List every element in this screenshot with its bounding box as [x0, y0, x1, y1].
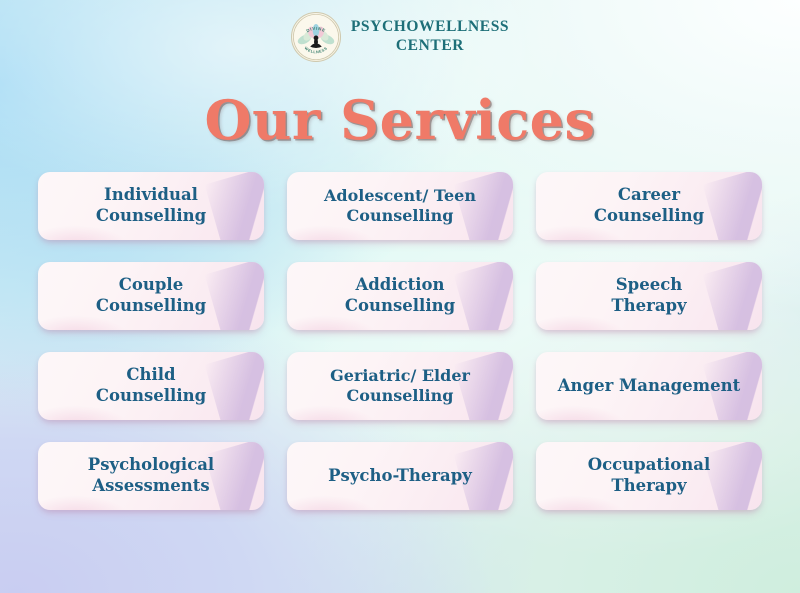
service-card-label: Adolescent/ Teen Counselling	[316, 186, 484, 226]
service-card[interactable]: Geriatric/ Elder Counselling	[287, 352, 513, 420]
brand-name-line1: PSYCHOWELLNESS	[351, 18, 509, 35]
service-card-label: Career Counselling	[586, 185, 712, 227]
service-card-label: Occupational Therapy	[580, 455, 719, 497]
service-card[interactable]: Psychological Assessments	[38, 442, 264, 510]
service-card-label: Child Counselling	[88, 365, 214, 407]
brand-name: PSYCHOWELLNESS CENTER	[351, 18, 509, 56]
service-card-label: Psycho-Therapy	[320, 466, 480, 487]
service-card[interactable]: Career Counselling	[536, 172, 762, 240]
page-title: Our Services	[0, 88, 800, 152]
service-card[interactable]: Child Counselling	[38, 352, 264, 420]
service-card-label: Anger Management	[550, 376, 749, 397]
service-card-label: Geriatric/ Elder Counselling	[322, 366, 478, 406]
service-card[interactable]: Addiction Counselling	[287, 262, 513, 330]
brand-header: DIVINE WELLNESS PSYCHOWELLNESS CENTER	[0, 12, 800, 62]
service-card[interactable]: Couple Counselling	[38, 262, 264, 330]
services-grid: Individual Counselling Adolescent/ Teen …	[38, 172, 762, 510]
service-card-label: Psychological Assessments	[80, 455, 222, 497]
service-card[interactable]: Individual Counselling	[38, 172, 264, 240]
service-card-label: Speech Therapy	[603, 275, 694, 317]
service-card[interactable]: Anger Management	[536, 352, 762, 420]
service-card[interactable]: Psycho-Therapy	[287, 442, 513, 510]
brand-name-line2: CENTER	[351, 37, 509, 56]
divine-wellness-lotus-logo-icon: DIVINE WELLNESS	[291, 12, 341, 62]
service-card-label: Couple Counselling	[88, 275, 214, 317]
service-card[interactable]: Speech Therapy	[536, 262, 762, 330]
service-card-label: Individual Counselling	[88, 185, 214, 227]
service-card[interactable]: Occupational Therapy	[536, 442, 762, 510]
services-page: DIVINE WELLNESS PSYCHOWELLNESS CENTER Ou…	[0, 0, 800, 593]
service-card[interactable]: Adolescent/ Teen Counselling	[287, 172, 513, 240]
service-card-label: Addiction Counselling	[337, 275, 463, 317]
